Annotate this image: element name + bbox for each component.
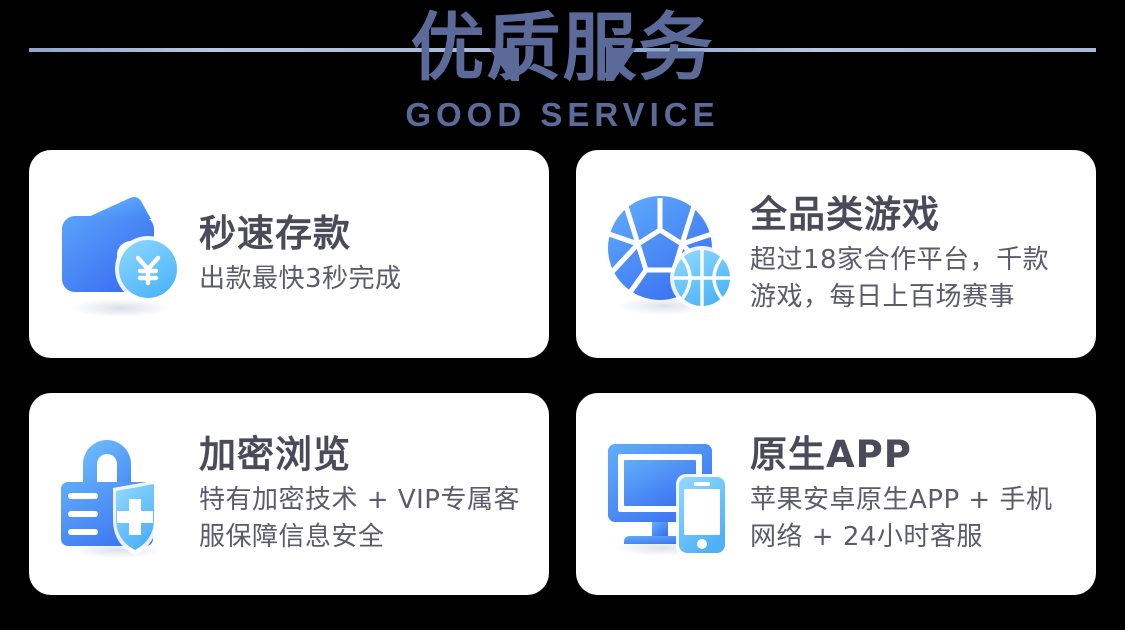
page-subtitle: GOOD SERVICE [0, 96, 1125, 134]
card-text-block: 加密浏览 特有加密技术 + VIP专属客服保障信息安全 [199, 432, 527, 556]
card-description: 出款最快3秒完成 [199, 261, 527, 298]
wallet-yen-icon [55, 186, 191, 322]
monitor-phone-icon [602, 426, 738, 562]
feature-card-grid: 秒速存款 出款最快3秒完成 [29, 150, 1096, 595]
feature-card-games[interactable]: 全品类游戏 超过18家合作平台，千款游戏，每日上百场赛事 [576, 150, 1096, 358]
page-header: 优质服务 GOOD SERVICE [0, 0, 1125, 146]
page-title: 优质服务 [0, 6, 1125, 90]
card-title: 加密浏览 [199, 432, 527, 478]
card-text-block: 秒速存款 出款最快3秒完成 [199, 211, 527, 298]
soccer-basketball-icon [602, 186, 738, 322]
card-description: 超过18家合作平台，千款游戏，每日上百场赛事 [750, 242, 1074, 316]
card-title: 原生APP [750, 432, 1074, 478]
card-text-block: 原生APP 苹果安卓原生APP + 手机网络 + 24小时客服 [750, 432, 1074, 556]
card-title: 全品类游戏 [750, 192, 1074, 238]
card-text-block: 全品类游戏 超过18家合作平台，千款游戏，每日上百场赛事 [750, 192, 1074, 316]
feature-card-deposit[interactable]: 秒速存款 出款最快3秒完成 [29, 150, 549, 358]
feature-card-native-app[interactable]: 原生APP 苹果安卓原生APP + 手机网络 + 24小时客服 [576, 393, 1096, 595]
lock-shield-icon [55, 426, 191, 562]
card-description: 苹果安卓原生APP + 手机网络 + 24小时客服 [750, 482, 1074, 556]
feature-card-encryption[interactable]: 加密浏览 特有加密技术 + VIP专属客服保障信息安全 [29, 393, 549, 595]
card-title: 秒速存款 [199, 211, 527, 257]
card-description: 特有加密技术 + VIP专属客服保障信息安全 [199, 482, 527, 556]
